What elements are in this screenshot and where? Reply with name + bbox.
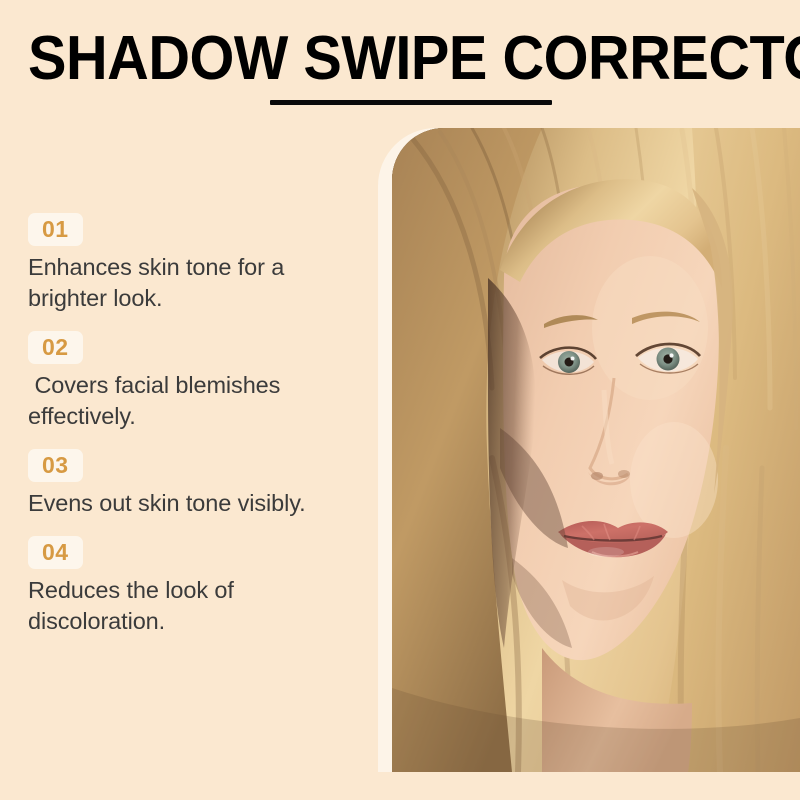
list-item: 02 Covers facial blemishes effectively. bbox=[28, 331, 358, 432]
feature-text-01: Enhances skin tone for a brighter look. bbox=[28, 252, 340, 314]
list-item: 03 Evens out skin tone visibly. bbox=[28, 449, 358, 519]
list-item: 01 Enhances skin tone for a brighter loo… bbox=[28, 213, 358, 314]
feature-text-02: Covers facial blemishes effectively. bbox=[28, 370, 340, 432]
page-title: SHADOW SWIPE CORRECTOR bbox=[28, 26, 772, 92]
portrait-photo-frame bbox=[378, 128, 800, 772]
poster-canvas: SHADOW SWIPE CORRECTOR 01 Enhances skin … bbox=[0, 0, 800, 800]
feature-number-badge-01: 01 bbox=[28, 213, 83, 246]
feature-number-badge-04: 04 bbox=[28, 536, 83, 569]
feature-text-03: Evens out skin tone visibly. bbox=[28, 488, 340, 519]
feature-number-badge-03: 03 bbox=[28, 449, 83, 482]
feature-text-04: Reduces the look of discoloration. bbox=[28, 575, 340, 637]
list-item: 04 Reduces the look of discoloration. bbox=[28, 536, 358, 637]
title-underline-rule bbox=[270, 100, 552, 105]
portrait-photo bbox=[392, 128, 800, 772]
feature-list: 01 Enhances skin tone for a brighter loo… bbox=[28, 213, 358, 637]
feature-number-badge-02: 02 bbox=[28, 331, 83, 364]
